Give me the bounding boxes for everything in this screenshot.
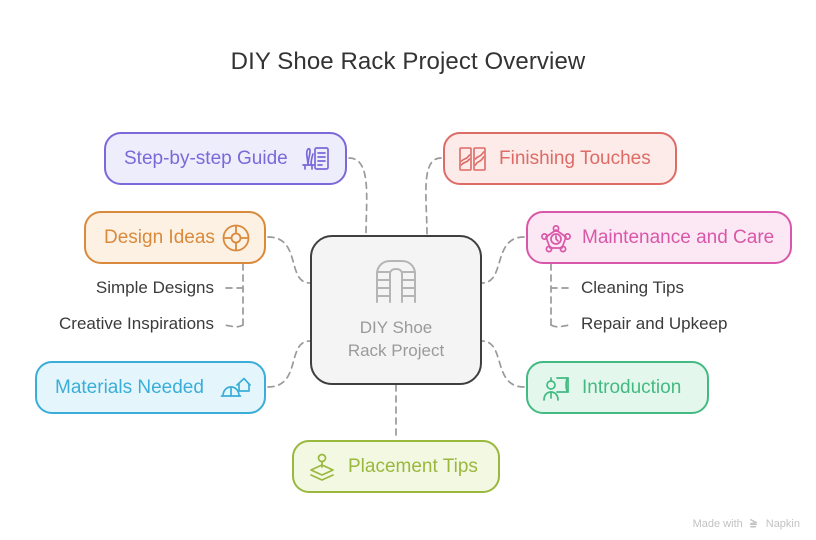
node-design-ideas[interactable]: Design Ideas — [84, 211, 266, 264]
center-node-label: DIY Shoe Rack Project — [348, 317, 444, 363]
center-node-label-line1: DIY Shoe — [348, 317, 444, 340]
center-node[interactable]: DIY Shoe Rack Project — [310, 235, 482, 385]
center-node-label-line2: Rack Project — [348, 340, 444, 363]
node-label-introduction: Introduction — [582, 378, 681, 397]
node-label-finishing-touches: Finishing Touches — [499, 149, 651, 168]
node-label-maintenance-and-care: Maintenance and Care — [582, 228, 774, 247]
gear-care-icon — [540, 222, 572, 254]
subitem-label-simple-designs: Simple Designs — [96, 278, 214, 297]
napkin-logo-icon — [748, 517, 761, 530]
subitem-repair-and-upkeep[interactable]: Repair and Upkeep — [581, 314, 811, 334]
edge-materials-needed — [268, 341, 310, 387]
subitem-label-cleaning-tips: Cleaning Tips — [581, 278, 684, 297]
node-materials-needed[interactable]: Materials Needed — [35, 361, 266, 414]
edge-repair-and-upkeep — [551, 325, 572, 327]
shoe-rack-icon — [368, 258, 424, 309]
subitem-cleaning-tips[interactable]: Cleaning Tips — [581, 278, 811, 298]
watermark-brand: Napkin — [766, 518, 800, 530]
hard-hat-house-icon — [220, 372, 252, 404]
edge-design-ideas — [268, 237, 310, 283]
node-maintenance-and-care[interactable]: Maintenance and Care — [526, 211, 792, 264]
node-placement-tips[interactable]: Placement Tips — [292, 440, 500, 493]
node-label-design-ideas: Design Ideas — [104, 228, 215, 247]
edge-step-by-step-guide — [349, 158, 367, 235]
edge-finishing-touches — [426, 158, 441, 235]
paint-panels-icon — [457, 143, 489, 175]
edge-maintenance-and-care — [482, 237, 524, 283]
node-step-by-step-guide[interactable]: Step-by-step Guide — [104, 132, 347, 185]
edge-creative-inspirations — [222, 325, 243, 327]
subitem-simple-designs[interactable]: Simple Designs — [0, 278, 214, 298]
subitem-creative-inspirations[interactable]: Creative Inspirations — [0, 314, 214, 334]
watermark-text: Made with — [693, 518, 743, 530]
design-wheel-icon — [220, 222, 252, 254]
subitem-label-creative-inspirations: Creative Inspirations — [59, 314, 214, 333]
node-introduction[interactable]: Introduction — [526, 361, 709, 414]
guide-document-icon — [299, 143, 331, 175]
page-title: DIY Shoe Rack Project Overview — [0, 48, 816, 76]
edge-introduction — [482, 341, 524, 387]
node-label-materials-needed: Materials Needed — [55, 378, 204, 397]
subitem-label-repair-and-upkeep: Repair and Upkeep — [581, 314, 727, 333]
node-label-placement-tips: Placement Tips — [348, 457, 478, 476]
watermark: Made with Napkin — [693, 517, 800, 530]
pin-layers-icon — [306, 451, 338, 483]
node-label-step-by-step-guide: Step-by-step Guide — [124, 149, 288, 168]
diagram-canvas: DIY Shoe Rack Project Overview — [0, 0, 816, 540]
presenter-icon — [540, 372, 572, 404]
node-finishing-touches[interactable]: Finishing Touches — [443, 132, 677, 185]
